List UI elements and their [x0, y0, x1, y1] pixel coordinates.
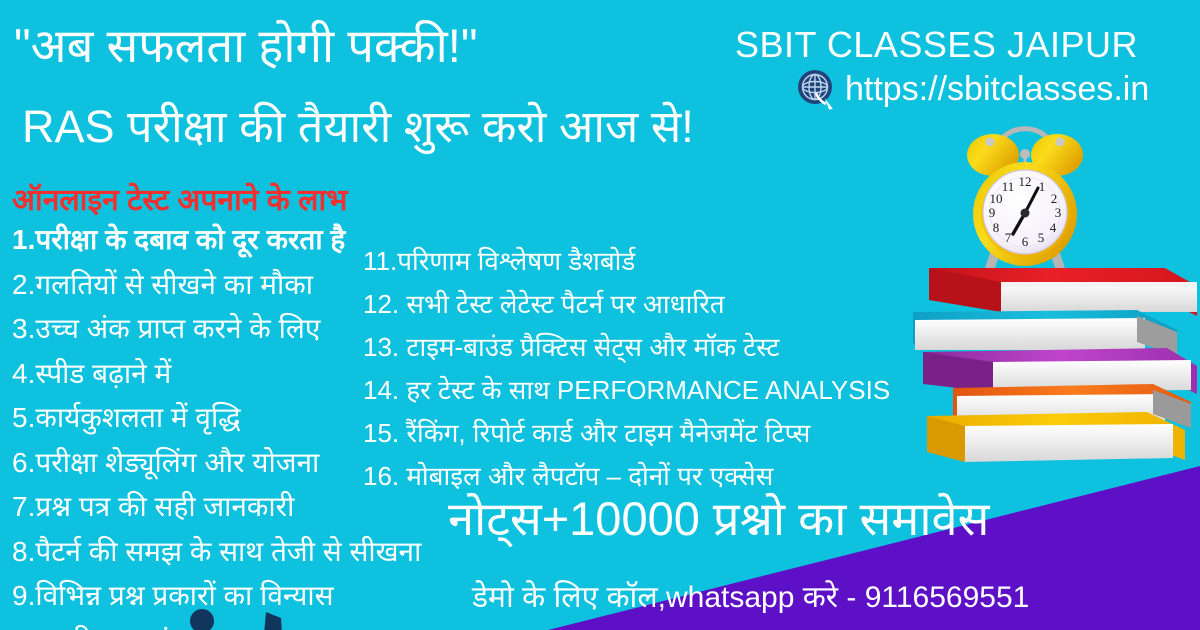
brand-title: SBIT CLASSES JAIPUR [735, 27, 1138, 63]
alarm-clock-on-books-illustration: 12 1 2 3 4 5 6 7 8 9 10 11 [885, 104, 1200, 484]
svg-text:9: 9 [989, 205, 996, 220]
book-yellow [927, 412, 1185, 462]
benefits-heading: ऑनलाइन टेस्ट अपनाने के लाभ [12, 178, 347, 219]
list-item: 11.परिणाम विश्लेषण डैशबोर्ड [363, 248, 923, 274]
list-item: 9.विभिन्न प्रश्न प्रकारों का विन्यास [12, 582, 482, 610]
headline-cta: RAS परीक्षा की तैयारी शुरू करो आज से! [22, 104, 694, 149]
svg-text:3: 3 [1055, 205, 1062, 220]
list-item: 8.पैटर्न की समझ के साथ तेजी से सीखना [12, 538, 482, 566]
svg-text:1: 1 [1039, 179, 1046, 194]
list-item: 15. रैंकिंग, रिपोर्ट कार्ड और टाइम मैनेज… [363, 420, 923, 446]
promo-banner: "अब सफलता होगी पक्की!" SBIT CLASSES JAIP… [0, 0, 1200, 630]
svg-text:8: 8 [993, 220, 1000, 235]
promo-contact: डेमो के लिए कॉल,whatsapp करे - 911656955… [472, 583, 1029, 613]
headline-quote: "अब सफलता होगी पक्की!" [14, 22, 478, 69]
book-red [929, 268, 1197, 316]
svg-text:10: 10 [990, 191, 1003, 206]
book-cyan [913, 310, 1177, 356]
svg-text:11: 11 [1002, 179, 1015, 194]
list-item: 13. टाइम-बाउंड प्रैक्टिस सेट्स और मॉक टे… [363, 334, 923, 360]
svg-text:4: 4 [1050, 220, 1057, 235]
website-row[interactable]: https://sbitclasses.in [796, 68, 1149, 110]
svg-text:5: 5 [1038, 230, 1045, 245]
svg-text:7: 7 [1005, 230, 1012, 245]
benefits-list-right: 11.परिणाम विश्लेषण डैशबोर्ड 12. सभी टेस्… [363, 248, 923, 506]
list-item: 12. सभी टेस्ट लेटेस्ट पैटर्न पर आधारित [363, 291, 923, 317]
svg-text:6: 6 [1022, 234, 1029, 249]
alarm-clock: 12 1 2 3 4 5 6 7 8 9 10 11 [967, 129, 1083, 268]
svg-text:2: 2 [1051, 191, 1058, 206]
globe-cursor-icon [796, 68, 836, 110]
list-item: 14. हर टेस्ट के साथ PERFORMANCE ANALYSIS [363, 377, 923, 403]
list-item: 10.त्वरित मूल्यांकन [12, 627, 482, 630]
list-item: 16. मोबाइल और लैपटॉप – दोनों पर एक्सेस [363, 463, 923, 489]
book-stack [913, 268, 1197, 462]
book-orange [953, 384, 1191, 428]
clock-numerals: 12 1 2 3 4 5 6 7 8 9 10 11 [989, 174, 1062, 249]
book-purple [923, 348, 1197, 394]
svg-text:12: 12 [1019, 174, 1032, 189]
promo-offer: नोट्स+10000 प्रश्नो का समावेस [448, 495, 989, 542]
website-url[interactable]: https://sbitclasses.in [845, 72, 1149, 106]
